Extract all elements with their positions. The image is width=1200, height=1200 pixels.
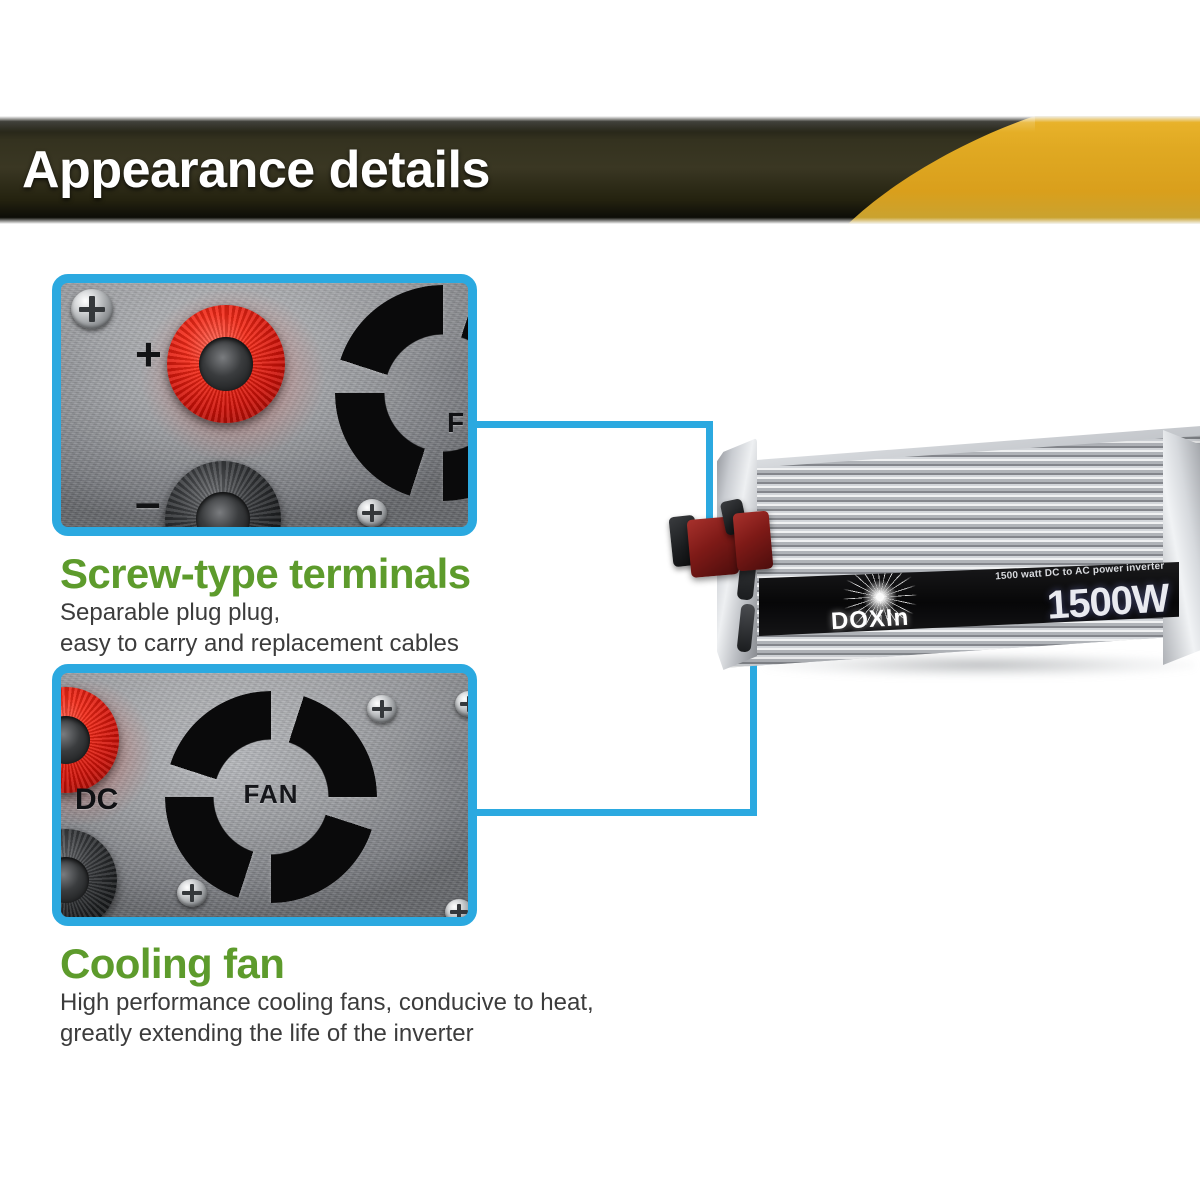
connector-fan-horizontal	[470, 809, 757, 816]
product-terminal-plugs	[733, 511, 774, 572]
terminal-socket-hole	[196, 492, 249, 536]
fan-grille-partial	[335, 285, 477, 501]
page-title: Appearance details	[22, 140, 490, 200]
product-image-inverter: DOXIn 1500 watt DC to AC power inverter …	[655, 420, 1200, 730]
screw-icon	[357, 499, 387, 527]
inverter-right-endcap	[1163, 420, 1200, 670]
cooling-fan-photo: DC FAN	[52, 664, 477, 926]
header-banner: Appearance details	[0, 116, 1200, 224]
screw-type-terminals-photo: + – F	[52, 274, 477, 536]
fan-grille: FAN	[165, 691, 377, 903]
negative-mark-label: –	[135, 479, 161, 525]
terminal-socket-hole	[199, 337, 253, 391]
positive-terminal-post	[167, 305, 285, 423]
feature-body-cooling-fan: High performance cooling fans, conducive…	[60, 988, 594, 1049]
fan-edge-label: F	[447, 407, 464, 439]
screw-icon	[71, 289, 113, 329]
dc-label: DC	[75, 783, 118, 817]
screw-icon	[445, 899, 473, 925]
feature-body-terminals: Separable plug plug, easy to carry and r…	[60, 598, 459, 659]
feature-title-terminals: Screw-type terminals	[60, 550, 471, 598]
fan-label: FAN	[165, 779, 377, 810]
fan-grille-ring	[335, 285, 477, 501]
screw-icon	[455, 691, 477, 717]
positive-mark-label: +	[135, 331, 162, 377]
feature-title-cooling-fan: Cooling fan	[60, 940, 284, 988]
